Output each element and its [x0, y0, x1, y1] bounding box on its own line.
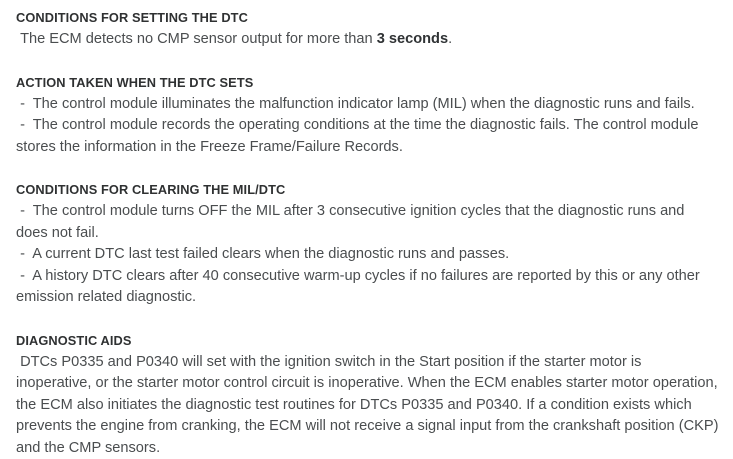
text-run: - A history DTC clears after 40 consecut…: [16, 268, 704, 306]
section-heading: CONDITIONS FOR CLEARING THE MIL/DTC: [16, 180, 720, 200]
section-heading: ACTION TAKEN WHEN THE DTC SETS: [16, 73, 720, 93]
section-heading: DIAGNOSTIC AIDS: [16, 331, 720, 351]
section-action-taken-when-the-dtc-sets: ACTION TAKEN WHEN THE DTC SETS - The con…: [16, 73, 720, 159]
body-paragraph: DTCs P0335 and P0340 will set with the i…: [16, 352, 720, 459]
bullet-line: - A history DTC clears after 40 consecut…: [16, 266, 720, 309]
section-heading: CONDITIONS FOR SETTING THE DTC: [16, 8, 720, 28]
section-conditions-for-clearing-the-mil-dtc: CONDITIONS FOR CLEARING THE MIL/DTC - Th…: [16, 180, 720, 309]
text-run: - The control module turns OFF the MIL a…: [16, 203, 688, 241]
body-paragraph: The ECM detects no CMP sensor output for…: [16, 29, 720, 51]
section-diagnostic-aids: DIAGNOSTIC AIDS DTCs P0335 and P0340 wil…: [16, 331, 720, 459]
section-conditions-for-setting-the-dtc: CONDITIONS FOR SETTING THE DTC The ECM d…: [16, 8, 720, 51]
diagnostic-document: CONDITIONS FOR SETTING THE DTC The ECM d…: [0, 0, 733, 426]
bullet-line: - A current DTC last test failed clears …: [16, 244, 720, 266]
bullet-line: - The control module illuminates the mal…: [16, 94, 720, 116]
emphasis-text: 3 seconds: [377, 31, 448, 47]
bullet-line: - The control module records the operati…: [16, 115, 720, 158]
text-run: - The control module illuminates the mal…: [16, 96, 695, 112]
text-run: The ECM detects no CMP sensor output for…: [16, 31, 377, 47]
bullet-line: - The control module turns OFF the MIL a…: [16, 201, 720, 244]
text-run: .: [448, 31, 452, 47]
text-run: - The control module records the operati…: [16, 117, 703, 155]
text-run: - A current DTC last test failed clears …: [16, 246, 509, 262]
text-run: DTCs P0335 and P0340 will set with the i…: [16, 354, 723, 456]
